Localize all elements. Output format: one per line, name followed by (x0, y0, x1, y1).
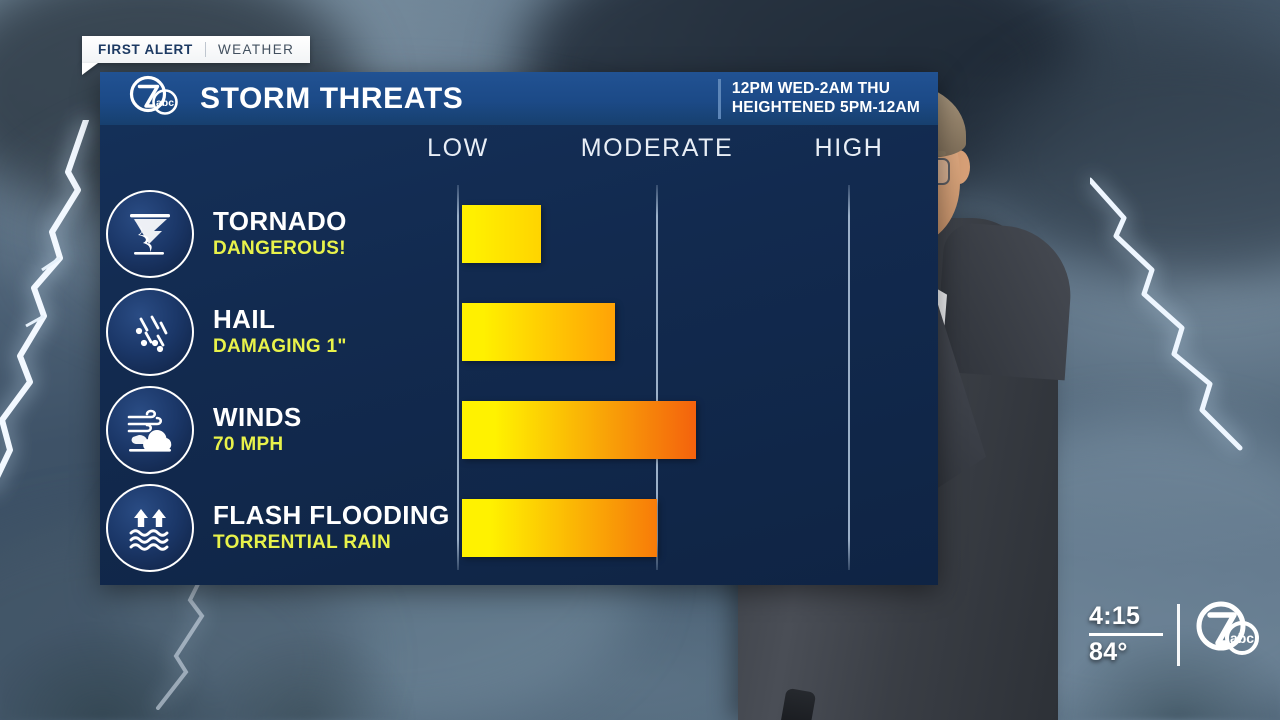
threat-text: FLASH FLOODINGTORRENTIAL RAIN (213, 501, 450, 555)
threat-scale-labels: LOWMODERATEHIGH (100, 134, 938, 168)
scale-label-moderate: MODERATE (581, 134, 734, 163)
threat-name: FLASH FLOODING (213, 501, 450, 530)
lightning-bolt-icon (0, 120, 110, 540)
threat-text: WINDS70 MPH (213, 403, 302, 457)
panel-header: abc STORM THREATS 12PM WED-2AM THU HEIGH… (100, 72, 938, 125)
timing-line-1: 12PM WED-2AM THU (732, 80, 920, 99)
threat-bar (462, 401, 696, 459)
first-alert-weather-tab: FIRST ALERT WEATHER (82, 36, 310, 63)
threat-description: 70 MPH (213, 434, 302, 457)
lightning-bolt-icon (1090, 170, 1260, 490)
scale-label-high: HIGH (815, 134, 884, 163)
threat-name: WINDS (213, 403, 302, 432)
tornado-icon (121, 205, 179, 263)
bug-vertical-rule (1177, 604, 1180, 666)
threat-name: TORNADO (213, 207, 347, 236)
weather-label: WEATHER (218, 42, 294, 57)
threat-bar (462, 205, 541, 263)
threat-description: DAMAGING 1" (213, 336, 347, 359)
timing-line-2: HEIGHTENED 5PM-12AM (732, 99, 920, 118)
shoulder-right (935, 222, 1075, 381)
threat-rows: TORNADODANGEROUS! HAILDAMAGING 1" WINDS7… (100, 185, 938, 577)
threat-icon-circle (106, 484, 194, 572)
bug-divider (1089, 633, 1163, 636)
timing-divider (718, 79, 721, 119)
threat-bar (462, 303, 615, 361)
threat-name: HAIL (213, 305, 347, 334)
wind-icon (121, 401, 179, 459)
hail-icon (121, 303, 179, 361)
scale-label-low: LOW (427, 134, 489, 163)
threat-icon-circle (106, 386, 194, 474)
threat-text: HAILDAMAGING 1" (213, 305, 347, 359)
threat-bar (462, 499, 657, 557)
flood-icon (121, 499, 179, 557)
storm-threats-panel: abc STORM THREATS 12PM WED-2AM THU HEIGH… (100, 72, 938, 585)
timing-block: 12PM WED-2AM THU HEIGHTENED 5PM-12AM (718, 79, 920, 119)
svg-text:abc: abc (1230, 630, 1254, 646)
threat-description: DANGEROUS! (213, 238, 347, 261)
current-temperature: 84° (1089, 638, 1163, 667)
clock-block: 4:15 84° (1089, 602, 1163, 667)
threat-description: TORRENTIAL RAIN (213, 532, 450, 555)
threat-icon-circle (106, 288, 194, 376)
current-time: 4:15 (1089, 602, 1163, 631)
threat-row: FLASH FLOODINGTORRENTIAL RAIN (100, 479, 938, 577)
7abc-logo-icon: abc (126, 75, 184, 122)
threat-text: TORNADODANGEROUS! (213, 207, 347, 261)
7abc-logo-icon: abc (1194, 601, 1262, 668)
tab-divider (205, 42, 206, 57)
threat-icon-circle (106, 190, 194, 278)
station-bug: 4:15 84° abc (1089, 601, 1262, 668)
threat-row: WINDS70 MPH (100, 381, 938, 479)
threat-row: HAILDAMAGING 1" (100, 283, 938, 381)
first-alert-label: FIRST ALERT (98, 42, 193, 57)
tab-pointer (82, 63, 98, 75)
svg-text:abc: abc (156, 97, 174, 109)
panel-title: STORM THREATS (200, 82, 463, 116)
threat-row: TORNADODANGEROUS! (100, 185, 938, 283)
